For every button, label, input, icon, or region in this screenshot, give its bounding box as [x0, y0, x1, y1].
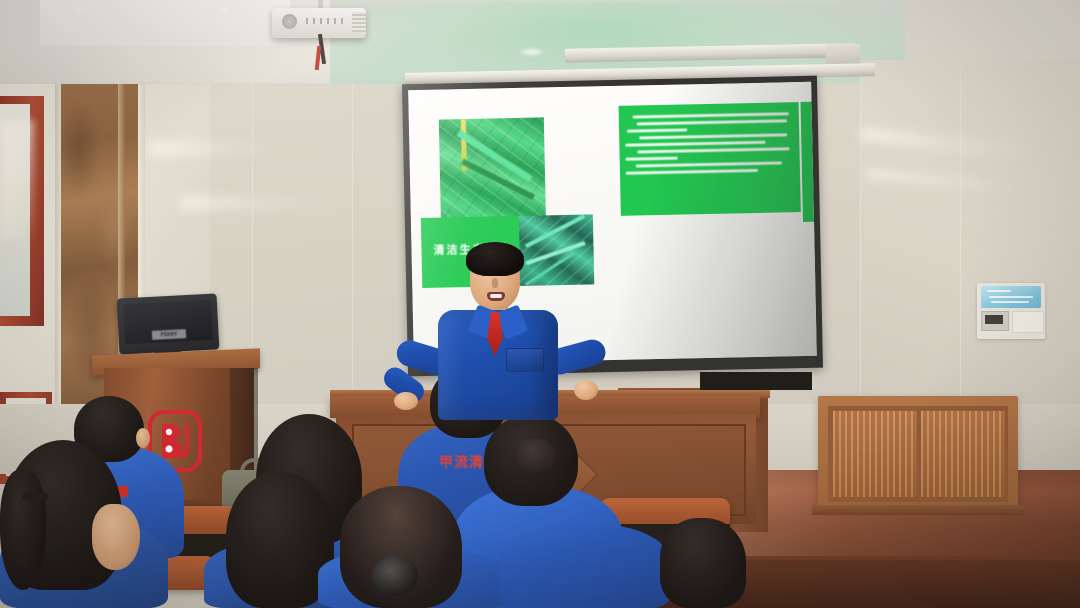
- conference-room-photo: 清洁生产措施: [0, 0, 1080, 608]
- desk-dark-monitor: [700, 372, 812, 390]
- audience-member-hair-bun: [516, 438, 556, 472]
- window-light-glow: [0, 120, 34, 240]
- audience-member-cheek: [92, 504, 140, 570]
- presenter-chest-pocket: [506, 348, 544, 372]
- presenter-right-hand: [574, 380, 598, 400]
- projector-controls: [306, 18, 344, 24]
- downlight-icon: [520, 48, 544, 56]
- wall-panel-switch[interactable]: [1012, 311, 1044, 333]
- cabinet-base: [812, 505, 1024, 515]
- audience-member-body: [500, 524, 670, 608]
- hair-scrunchie-icon: [372, 556, 418, 596]
- cabinet-panel-right: [921, 411, 1005, 497]
- hair-tie-icon: [22, 492, 48, 501]
- presenter-hair: [466, 242, 524, 276]
- marble-edge-left: [55, 84, 61, 414]
- downlight-icon: [68, 6, 90, 14]
- monitor-brand-label: Haier: [152, 329, 186, 340]
- wall-panel-screen[interactable]: [981, 286, 1041, 308]
- cabinet-panel-left: [833, 411, 917, 497]
- wall-light-streak: [180, 196, 320, 210]
- presenter-left-hand: [394, 392, 418, 410]
- audience-member-ponytail: [0, 470, 46, 590]
- audience-member-ear: [136, 428, 150, 448]
- wall-seam: [352, 84, 353, 404]
- wall-panel-thermostat[interactable]: [981, 311, 1009, 331]
- downlight-icon: [214, 6, 236, 14]
- wall-light-streak: [148, 140, 268, 156]
- projector-vent: [352, 12, 366, 32]
- projector-lens-icon: [282, 14, 297, 29]
- audience-member-hair: [660, 518, 746, 608]
